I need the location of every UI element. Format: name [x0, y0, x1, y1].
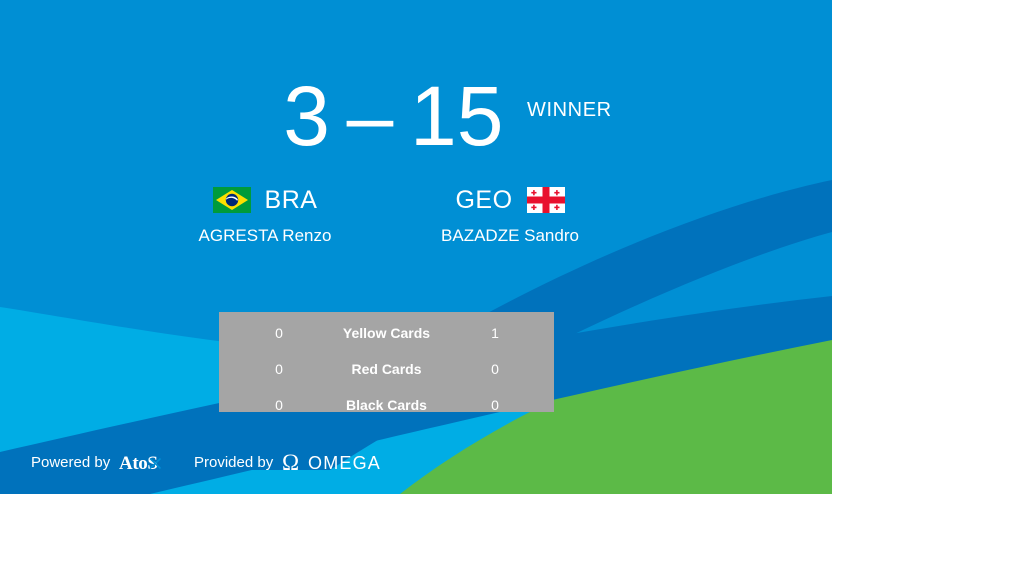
- stat-away-value: 1: [465, 323, 525, 343]
- omega-logo-icon: Ω OMEGA: [282, 451, 388, 475]
- score-home: 3: [220, 66, 330, 166]
- powered-by-label: Powered by: [31, 453, 110, 473]
- competitor-home-noc: BRA: [265, 187, 318, 213]
- omega-wordmark: OMEGA: [308, 453, 381, 473]
- competitor-away-athlete: BAZADZE Sandro: [360, 226, 660, 246]
- stat-away-value: 0: [465, 359, 525, 379]
- winner-badge: WINNER: [527, 99, 612, 122]
- footer-credits: Powered by AtoS Provided by Ω OMEGA: [0, 448, 832, 482]
- stat-home-value: 0: [249, 359, 309, 379]
- stat-row: 0 Black Cards 0: [219, 395, 554, 422]
- stat-home-value: 0: [249, 323, 309, 343]
- competitor-away-header: GEO: [360, 182, 660, 218]
- stat-label: Yellow Cards: [309, 323, 464, 343]
- svg-text:AtoS: AtoS: [119, 453, 158, 474]
- stat-label: Black Cards: [309, 395, 464, 415]
- scoreline: 3 – 15 WINNER: [0, 66, 832, 166]
- provided-by-omega: Provided by Ω OMEGA: [194, 448, 388, 478]
- competitor-away[interactable]: GEO BAZADZ: [360, 182, 660, 254]
- omega-symbol: Ω: [282, 451, 299, 475]
- provided-by-label: Provided by: [194, 453, 273, 473]
- stat-row: 0 Red Cards 0: [219, 359, 554, 386]
- match-result-panel: 3 – 15 WINNER BRA AGRESTA Renzo GEO: [0, 0, 832, 494]
- brazil-flag-icon: [213, 187, 251, 213]
- competitors-row: BRA AGRESTA Renzo GEO: [0, 182, 832, 254]
- atos-logo-icon: AtoS: [119, 452, 182, 474]
- cards-stats-panel: 0 Yellow Cards 1 0 Red Cards 0 0 Black C…: [219, 312, 554, 412]
- stat-row: 0 Yellow Cards 1: [219, 323, 554, 350]
- score-away: 15: [410, 66, 520, 166]
- stat-away-value: 0: [465, 395, 525, 415]
- competitor-away-noc: GEO: [455, 187, 512, 213]
- stat-home-value: 0: [249, 395, 309, 415]
- stat-label: Red Cards: [309, 359, 464, 379]
- score-separator: –: [340, 66, 400, 166]
- powered-by-atos: Powered by AtoS: [31, 448, 182, 478]
- georgia-flag-icon: [527, 187, 565, 213]
